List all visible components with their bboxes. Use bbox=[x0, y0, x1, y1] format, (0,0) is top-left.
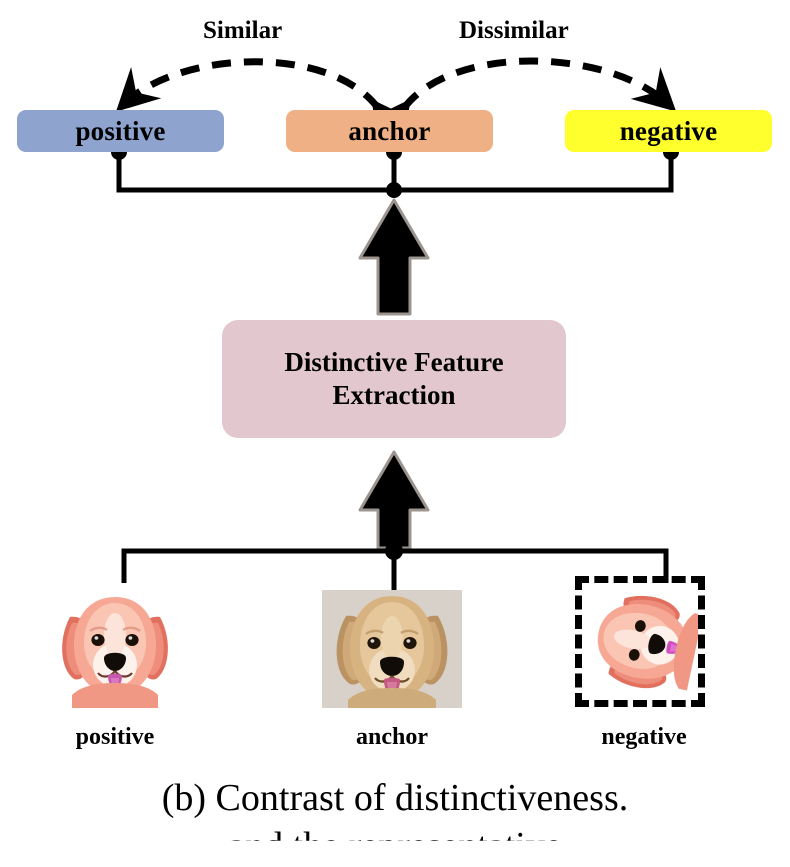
image-caption-anchor: anchor bbox=[277, 725, 507, 749]
image-caption-negative: negative bbox=[529, 725, 759, 749]
dog-photo-negative bbox=[581, 582, 699, 701]
image-caption-positive: positive bbox=[0, 725, 230, 749]
process-title-line-1: Distinctive Feature bbox=[284, 347, 503, 377]
dog-photo-anchor bbox=[322, 590, 462, 708]
junction-dot-lower-merge bbox=[385, 542, 403, 560]
image-anchor bbox=[322, 590, 462, 708]
arc-label-similar: Similar bbox=[203, 18, 282, 43]
dog-photo-positive bbox=[48, 583, 182, 708]
concept-box-anchor: anchor bbox=[286, 110, 493, 152]
distinctive-feature-extraction-block: Distinctive Feature Extraction bbox=[222, 320, 566, 438]
arc-similar bbox=[124, 62, 378, 108]
arc-label-dissimilar: Dissimilar bbox=[459, 18, 569, 43]
arrow-up-upper bbox=[360, 200, 428, 314]
concept-box-positive: positive bbox=[17, 110, 224, 152]
arrow-up-lower bbox=[360, 452, 428, 548]
image-positive bbox=[48, 583, 182, 708]
contrastive-learning-diagram: Similar Dissimilar positive anchor negat… bbox=[0, 0, 790, 866]
concept-box-negative: negative bbox=[565, 110, 772, 152]
arc-dissimilar bbox=[404, 61, 668, 108]
junction-dot-upper-merge bbox=[386, 182, 402, 198]
figure-caption: (b) Contrast of distinctiveness. bbox=[0, 778, 790, 819]
image-negative bbox=[575, 576, 705, 707]
process-title-line-2: Extraction bbox=[333, 380, 456, 410]
